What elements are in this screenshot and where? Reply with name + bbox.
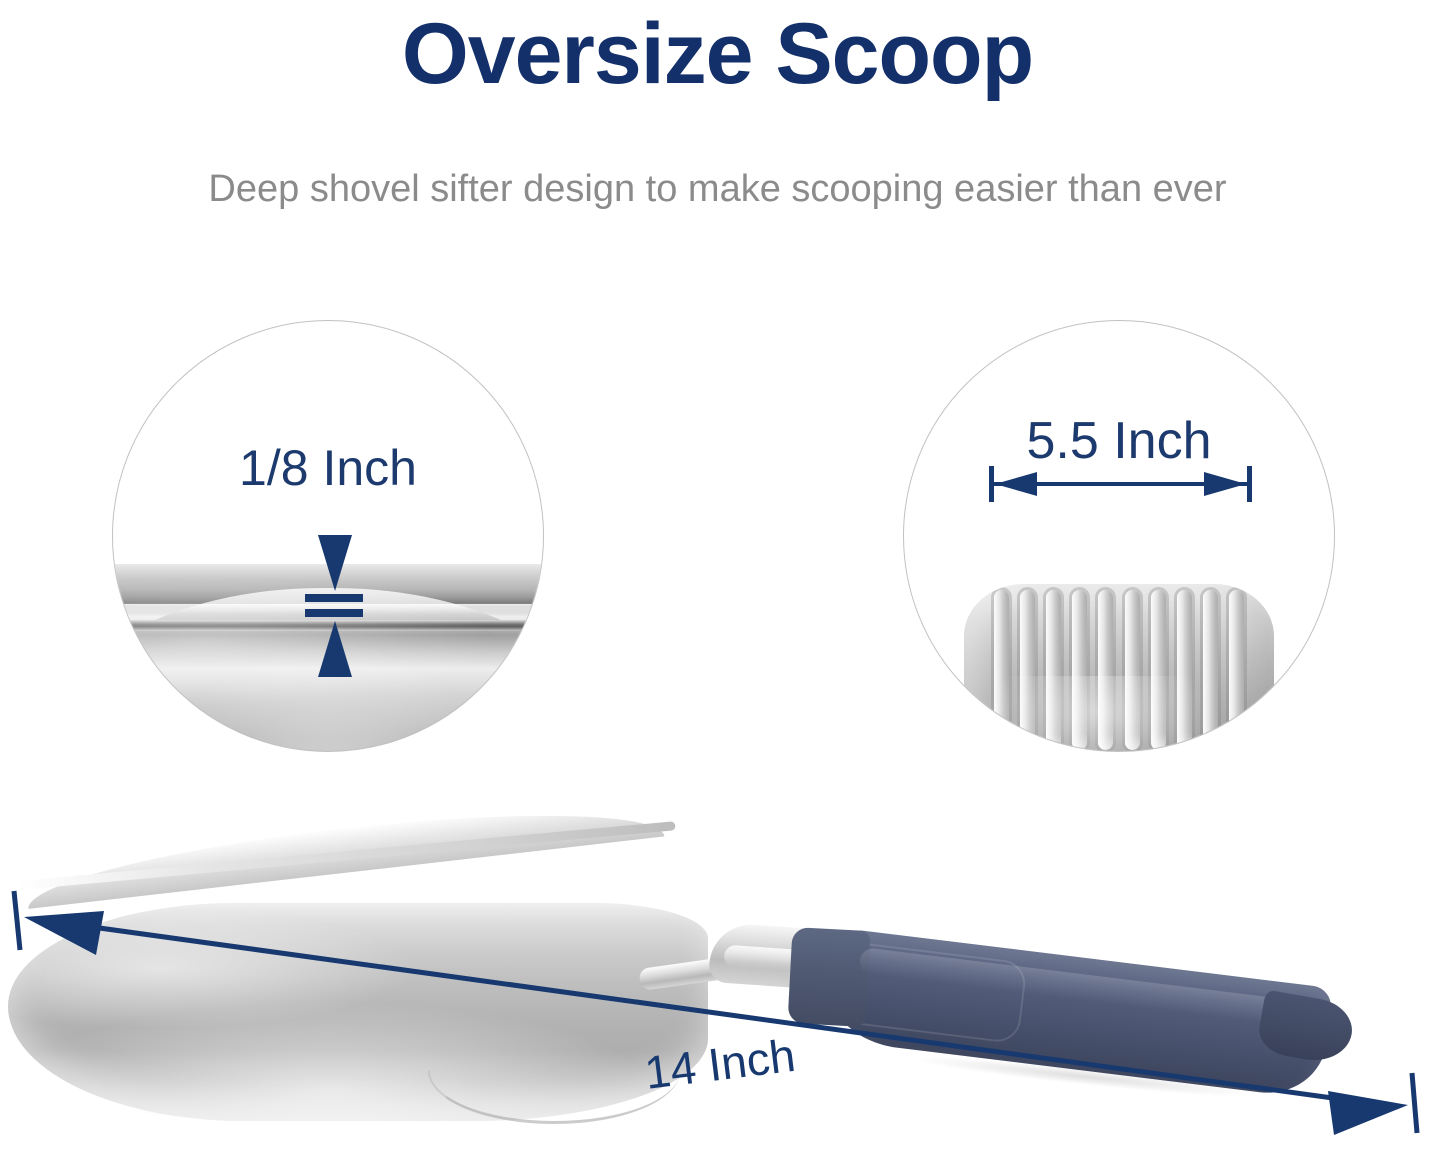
width-label: 5.5 Inch xyxy=(904,411,1334,471)
width-callout-circle: 5.5 Inch xyxy=(903,320,1335,752)
width-dimension-arrow-icon xyxy=(989,466,1252,502)
thickness-label: 1/8 Inch xyxy=(113,439,543,497)
scoop-bowl xyxy=(8,903,708,1121)
infographic-canvas: Oversize Scoop Deep shovel sifter design… xyxy=(0,0,1435,1171)
arrowhead-left-icon xyxy=(995,472,1037,496)
thickness-bar-lower xyxy=(305,609,363,617)
sifter-head-photo xyxy=(964,584,1274,752)
page-title: Oversize Scoop xyxy=(0,7,1435,102)
sifter-dome-shine xyxy=(989,676,1249,752)
handle-collar xyxy=(788,927,871,1027)
dimension-cap-right xyxy=(1247,466,1252,502)
handle-grip xyxy=(790,919,1345,1054)
page-subtitle: Deep shovel sifter design to make scoopi… xyxy=(0,168,1435,211)
thickness-arrow-top-icon xyxy=(318,535,352,591)
product-photo xyxy=(0,855,1435,1171)
thickness-callout-circle: 1/8 Inch xyxy=(112,320,544,752)
arrowhead-right-icon xyxy=(1204,472,1246,496)
thickness-bar-upper xyxy=(305,594,363,602)
thickness-arrow-bottom-icon xyxy=(318,621,352,677)
